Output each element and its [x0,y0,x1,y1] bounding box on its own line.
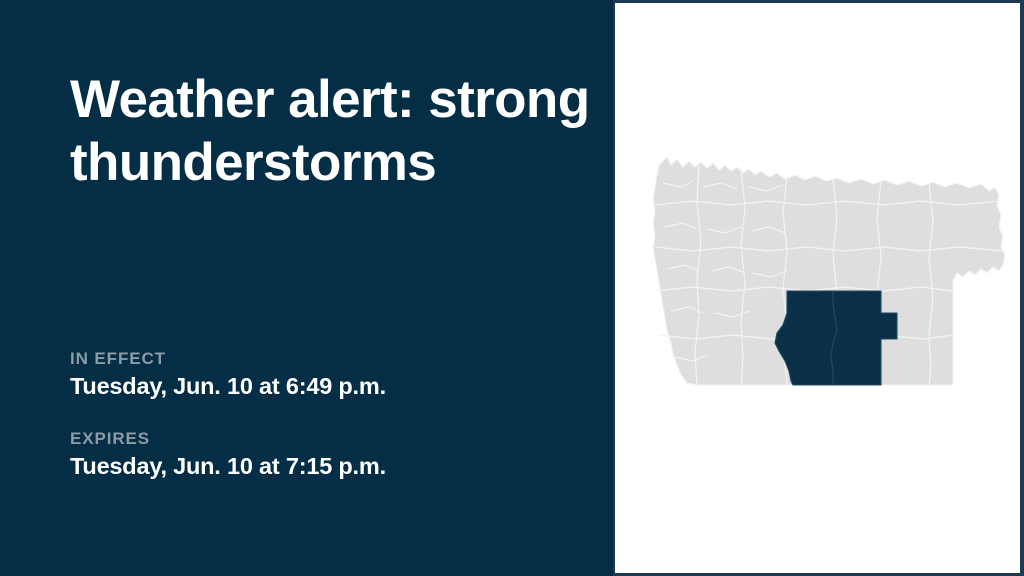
county-alert-layer [775,291,897,385]
expires-label: EXPIRES [70,428,590,449]
alert-text-panel: Weather alert: strong thunderstorms IN E… [0,0,613,576]
oregon-state-map [637,143,1007,428]
page-title: Weather alert: strong thunderstorms [70,68,590,194]
alert-map-panel [613,0,1024,576]
expires-value: Tuesday, Jun. 10 at 7:15 p.m. [70,451,590,481]
in-effect-block: IN EFFECT Tuesday, Jun. 10 at 6:49 p.m. [70,348,590,401]
in-effect-label: IN EFFECT [70,348,590,369]
alert-time-list: IN EFFECT Tuesday, Jun. 10 at 6:49 p.m. … [70,348,590,481]
in-effect-value: Tuesday, Jun. 10 at 6:49 p.m. [70,371,590,401]
expires-block: EXPIRES Tuesday, Jun. 10 at 7:15 p.m. [70,428,590,481]
weather-alert-card: Weather alert: strong thunderstorms IN E… [0,0,1024,576]
